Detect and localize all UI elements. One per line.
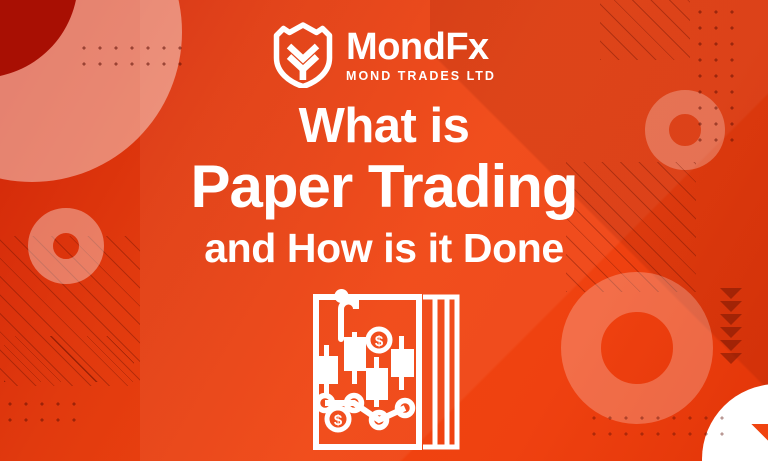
shield-chevron-icon (272, 22, 334, 88)
brand-tagline: MOND TRADES LTD (346, 70, 496, 83)
headline-line-3: and How is it Done (190, 226, 577, 271)
headline-block: What is Paper Trading and How is it Done (190, 102, 577, 271)
brand-logo-text: MondFx MOND TRADES LTD (346, 28, 496, 83)
svg-text:$: $ (375, 333, 384, 350)
brand-name: MondFx (346, 28, 496, 66)
stacked-pages-icon (423, 297, 457, 447)
dollar-coin-icon: $ (368, 329, 390, 351)
promo-banner: MondFx MOND TRADES LTD What is Paper Tra… (0, 0, 768, 461)
svg-text:$: $ (334, 412, 343, 429)
paper-trading-document-icon: $ $ (299, 283, 469, 453)
headline-line-2: Paper Trading (190, 155, 577, 220)
banner-content: MondFx MOND TRADES LTD What is Paper Tra… (0, 0, 768, 461)
brand-logo: MondFx MOND TRADES LTD (272, 22, 496, 88)
headline-line-1: What is (190, 102, 577, 151)
